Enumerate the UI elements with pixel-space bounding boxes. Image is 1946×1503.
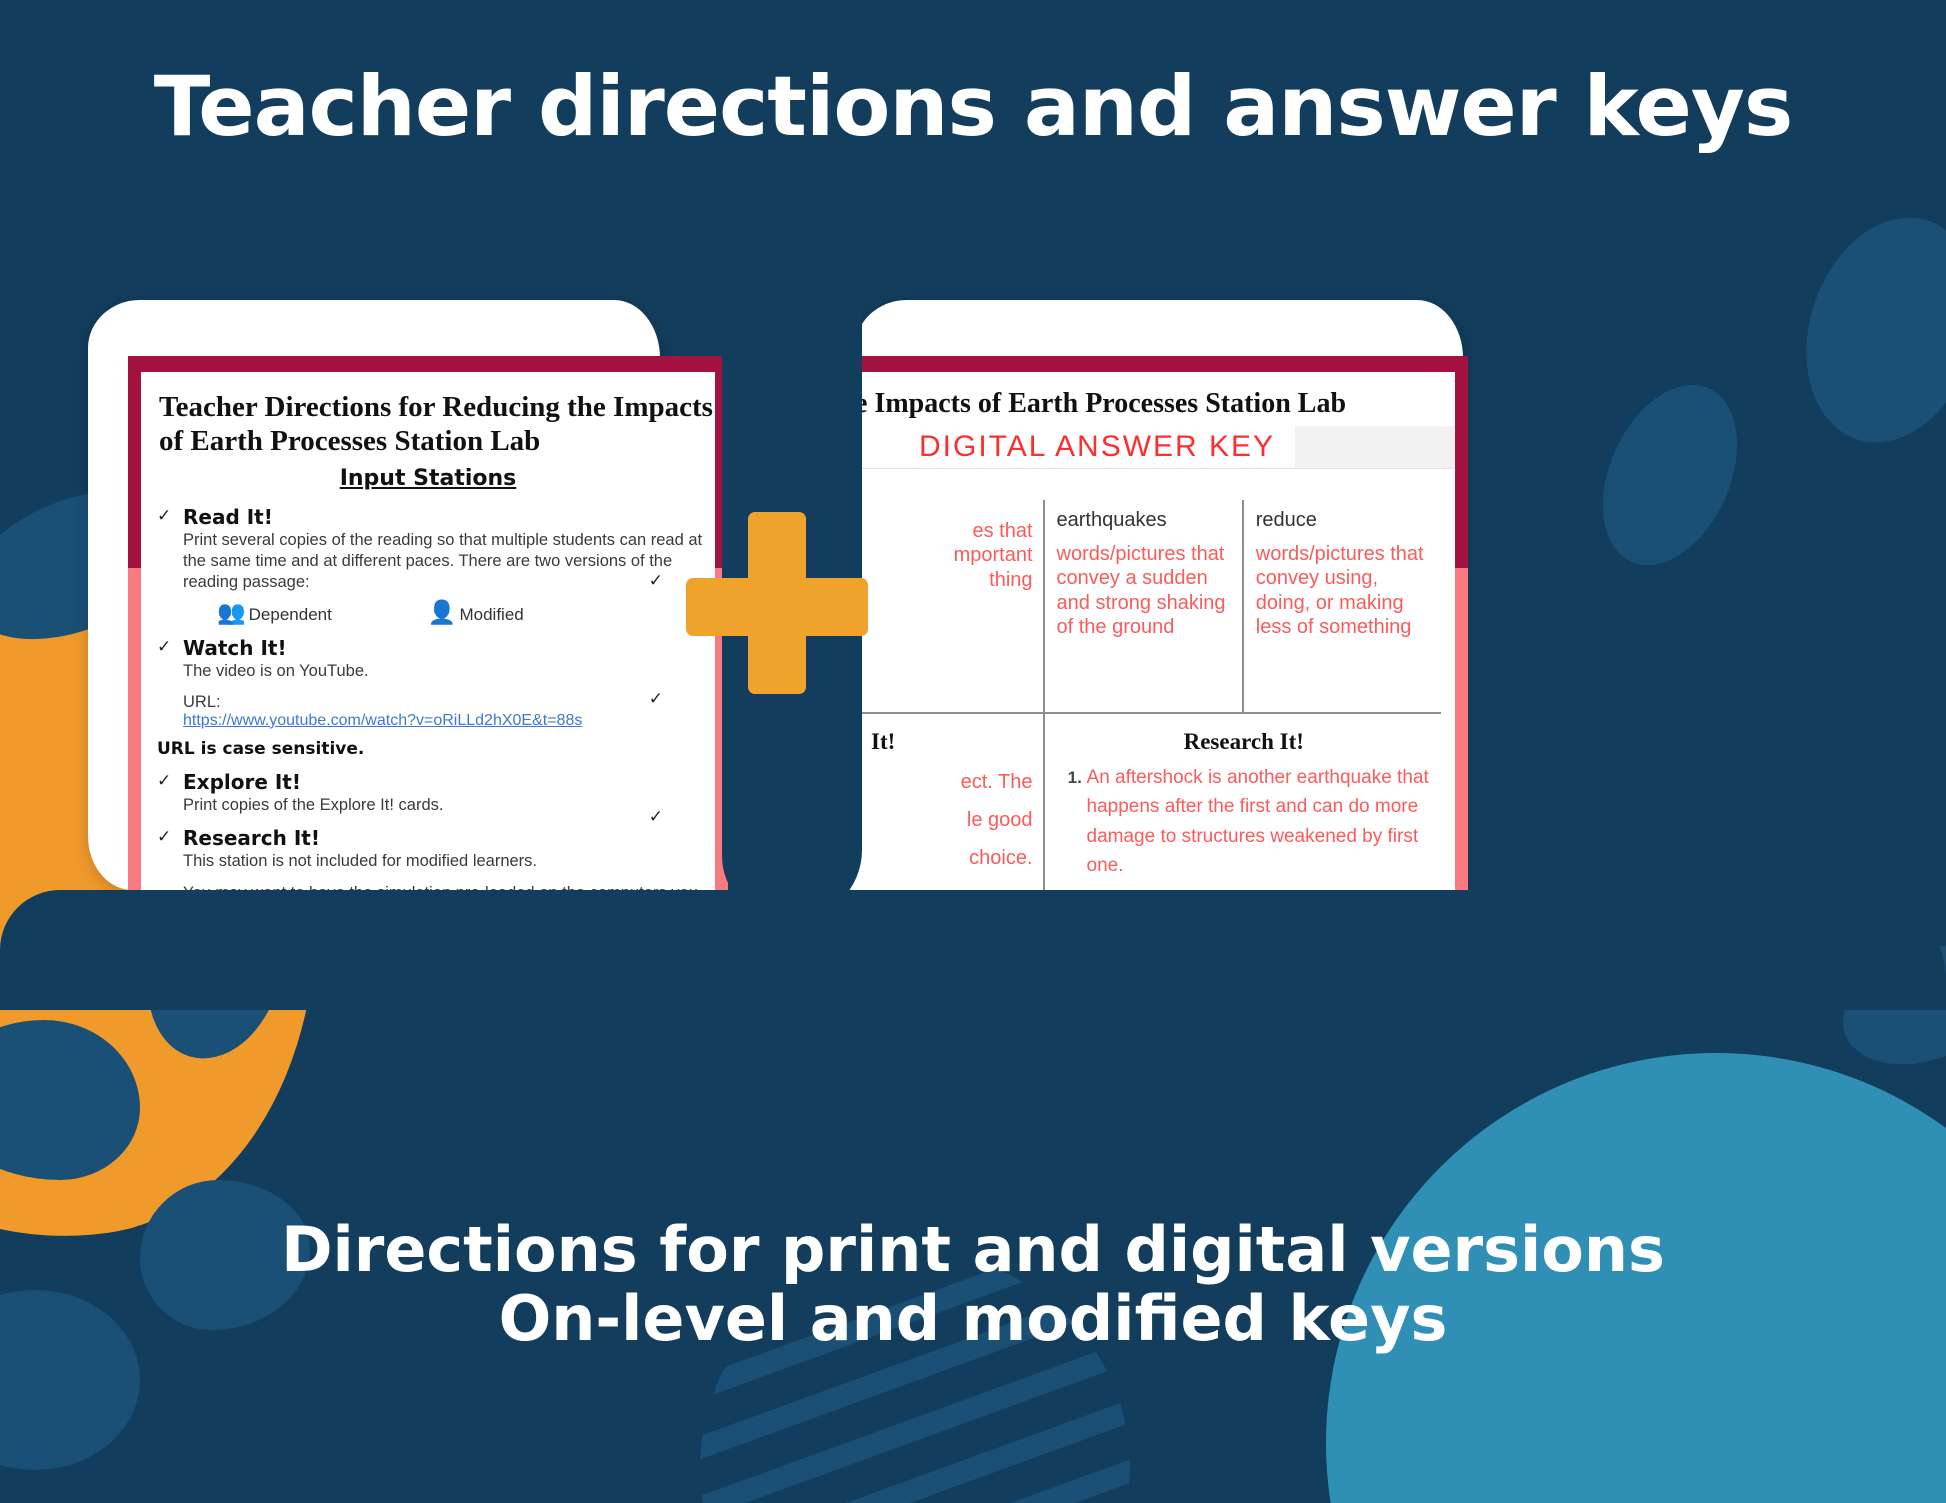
station-research-it: ✓ Research It! This station is not inclu… [157, 826, 715, 872]
station-list: ✓ Read It! Print several copies of the r… [157, 505, 715, 729]
answer-key-bar-tail [1295, 426, 1455, 468]
left-document-title: Teacher Directions for Reducing the Impa… [159, 390, 715, 458]
checkmark-icon: ✓ [157, 637, 171, 657]
table-row: It! ect. The le good choice. dn’t work R… [855, 712, 1441, 890]
checkmark-icon: ✓ [649, 640, 663, 758]
background-bottom-mask [0, 890, 1946, 1010]
document-frame-left-dark [128, 356, 141, 568]
station-name: Watch It! [183, 636, 715, 660]
document-frame-left-light [128, 568, 141, 890]
right-document-body: e Impacts of Earth Processes Station Lab… [841, 372, 1455, 890]
explore-it-cell-partial: It! ect. The le good choice. dn’t work [855, 714, 1043, 890]
simulation-note: You may want to have the simulation pre-… [183, 883, 715, 890]
research-it-cell: Research It! An aftershock is another ea… [1043, 714, 1441, 890]
checkmark-icon: ✓ [157, 506, 171, 526]
vocab-cell-reduce: reduce words/pictures that convey using,… [1242, 500, 1441, 712]
right-document-title: e Impacts of Earth Processes Station Lab [855, 388, 1455, 420]
answer-key-table: es that mportant thing earthquakes words… [855, 500, 1441, 890]
url-label: URL: [183, 693, 715, 712]
vocab-term: earthquakes [1057, 509, 1232, 532]
explore-it-answer: ect. The le good choice. dn’t work [867, 763, 1033, 890]
blue-dot-decoration [0, 1020, 140, 1180]
simulation-block: You may want to have the simulation pre-… [183, 883, 715, 890]
vocab-answer: words/pictures that convey using, doing,… [1256, 542, 1431, 640]
station-body: The video is on YouTube. [183, 661, 715, 682]
checkmark-icon: ✓ [649, 522, 663, 640]
station-body: This station is not included for modifie… [183, 851, 715, 872]
document-frame-top [828, 356, 1468, 372]
left-document-subtitle: Input Stations [141, 466, 715, 491]
url-block: URL: https://www.youtube.com/watch?v=oRi… [183, 693, 715, 730]
vocab-cell-earthquakes: earthquakes words/pictures that convey a… [1043, 500, 1242, 712]
document-frame-right-light [1455, 568, 1468, 890]
blue-dot-decoration [1577, 364, 1764, 586]
vocab-answer: es that mportant thing [867, 519, 1033, 592]
slide-canvas: Teacher directions and answer keys Teach… [0, 0, 1946, 1503]
list-item: An aftershock is another earthquake that… [1087, 763, 1431, 881]
vocab-term: reduce [1256, 509, 1431, 532]
digital-answer-key-bar: DIGITAL ANSWER KEY [841, 426, 1455, 469]
station-body: Print several copies of the reading so t… [183, 530, 715, 592]
vocab-answer: words/pictures that convey a sudden and … [1057, 542, 1232, 640]
station-explore-it: ✓ Explore It! Print copies of the Explor… [157, 770, 715, 816]
station-name: Research It! [183, 826, 715, 850]
station-name: Read It! [183, 505, 715, 529]
reading-version-label: Modified [459, 605, 523, 624]
left-document-body: Teacher Directions for Reducing the Impa… [141, 372, 715, 890]
table-row: es that mportant thing earthquakes words… [855, 500, 1441, 712]
station-name: Explore It! [183, 770, 715, 794]
research-answer-list: An aftershock is another earthquake that… [1057, 763, 1431, 890]
checkmark-icon: ✓ [157, 771, 171, 791]
document-frame-right-dark [1455, 356, 1468, 568]
section-heading: Research It! [1057, 729, 1431, 755]
station-body: Print copies of the Explore It! cards. [183, 795, 715, 816]
people-modified-icon: 👤Modified [428, 601, 524, 625]
youtube-url-link[interactable]: https://www.youtube.com/watch?v=oRiLLd2h… [183, 712, 582, 729]
section-heading: It! [871, 729, 1033, 755]
station-read-it: ✓ Read It! Print several copies of the r… [157, 505, 715, 624]
reading-version-row: 👥Dependent 👤Modified [217, 601, 715, 625]
page-footer: Directions for print and digital version… [0, 1215, 1946, 1354]
people-dependent-icon: 👥Dependent [217, 601, 332, 625]
checkmark-icon: ✓ [649, 758, 663, 876]
left-document: Teacher Directions for Reducing the Impa… [128, 356, 728, 890]
vocab-cell-partial: es that mportant thing [855, 500, 1043, 712]
checkmark-icon: ✓ [157, 827, 171, 847]
url-case-note: URL is case sensitive. [157, 739, 715, 759]
checkmark-icon: ✓ [649, 876, 663, 890]
footer-line-1: Directions for print and digital version… [0, 1215, 1946, 1284]
page-title: Teacher directions and answer keys [0, 58, 1946, 155]
blue-dot-decoration [1779, 195, 1946, 465]
right-document: e Impacts of Earth Processes Station Lab… [828, 356, 1468, 890]
digital-answer-key-label: DIGITAL ANSWER KEY [919, 430, 1275, 464]
document-frame-top [128, 356, 728, 372]
plus-icon [686, 512, 868, 694]
station-watch-it: ✓ Watch It! The video is on YouTube. [157, 636, 715, 682]
reading-version-label: Dependent [249, 605, 332, 624]
footer-line-2: On-level and modified keys [0, 1284, 1946, 1353]
right-column-checkmarks: ✓ ✓ ✓ ✓ [649, 522, 663, 890]
